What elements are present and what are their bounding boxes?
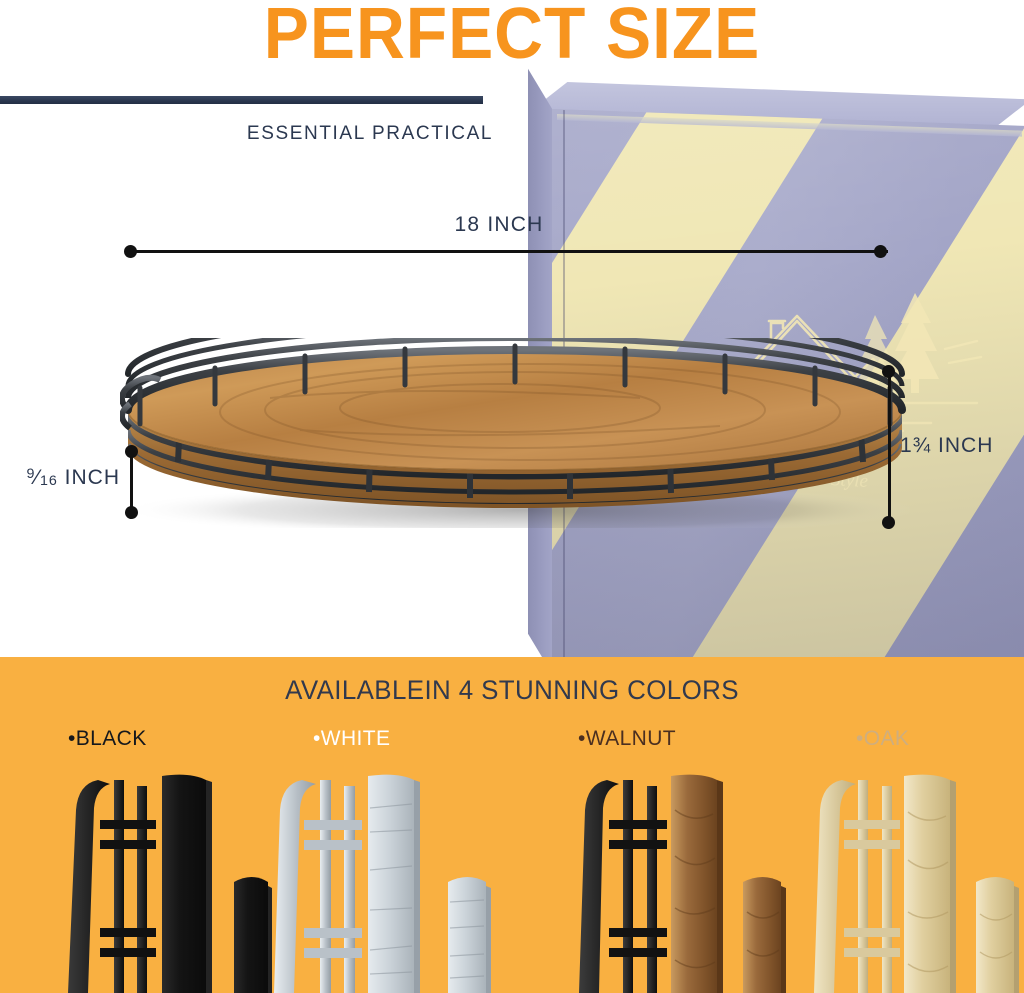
- product-swatch-walnut: [545, 760, 795, 993]
- thickness-dimension-line: [130, 451, 133, 513]
- color-label-walnut: •WALNUT: [578, 727, 676, 751]
- thickness-dimension-endpoint-bottom: [125, 506, 138, 519]
- fraction-denominator: 16: [40, 473, 58, 489]
- fraction-numerator: 9: [26, 466, 35, 482]
- navy-accent-bar: [0, 96, 483, 104]
- width-dimension-label: 18 INCH: [407, 213, 591, 237]
- height-dimension-label: 1¾ INCH: [900, 434, 993, 458]
- size-info-panel: PERFECT SIZE ESSENTIAL PRACTICAL: [0, 0, 1024, 657]
- product-swatch-black: [22, 760, 272, 993]
- product-swatch-oak: [808, 760, 1024, 993]
- colors-section-heading: AVAILABLEIN 4 STUNNING COLORS: [20, 675, 1003, 706]
- height-dimension-endpoint-top: [882, 365, 895, 378]
- color-options-panel: AVAILABLEIN 4 STUNNING COLORS •BLACK •WH…: [0, 657, 1024, 993]
- width-dimension-endpoint-right: [874, 245, 887, 258]
- height-dimension-endpoint-bottom: [882, 516, 895, 529]
- thickness-dimension-label: 9⁄16 INCH: [2, 466, 120, 490]
- thickness-dimension-endpoint-top: [125, 445, 138, 458]
- height-dimension-line: [888, 371, 891, 523]
- color-label-white: •WHITE: [313, 727, 390, 751]
- width-dimension-endpoint-left: [124, 245, 137, 258]
- color-label-black: •BLACK: [68, 727, 147, 751]
- color-label-oak: •OAK: [856, 727, 909, 751]
- width-dimension-line: [131, 250, 888, 253]
- lazy-susan-product-image: [120, 338, 910, 528]
- thickness-unit: INCH: [65, 466, 120, 489]
- page-title: PERFECT SIZE: [31, 0, 994, 72]
- product-swatch-white: [272, 760, 530, 993]
